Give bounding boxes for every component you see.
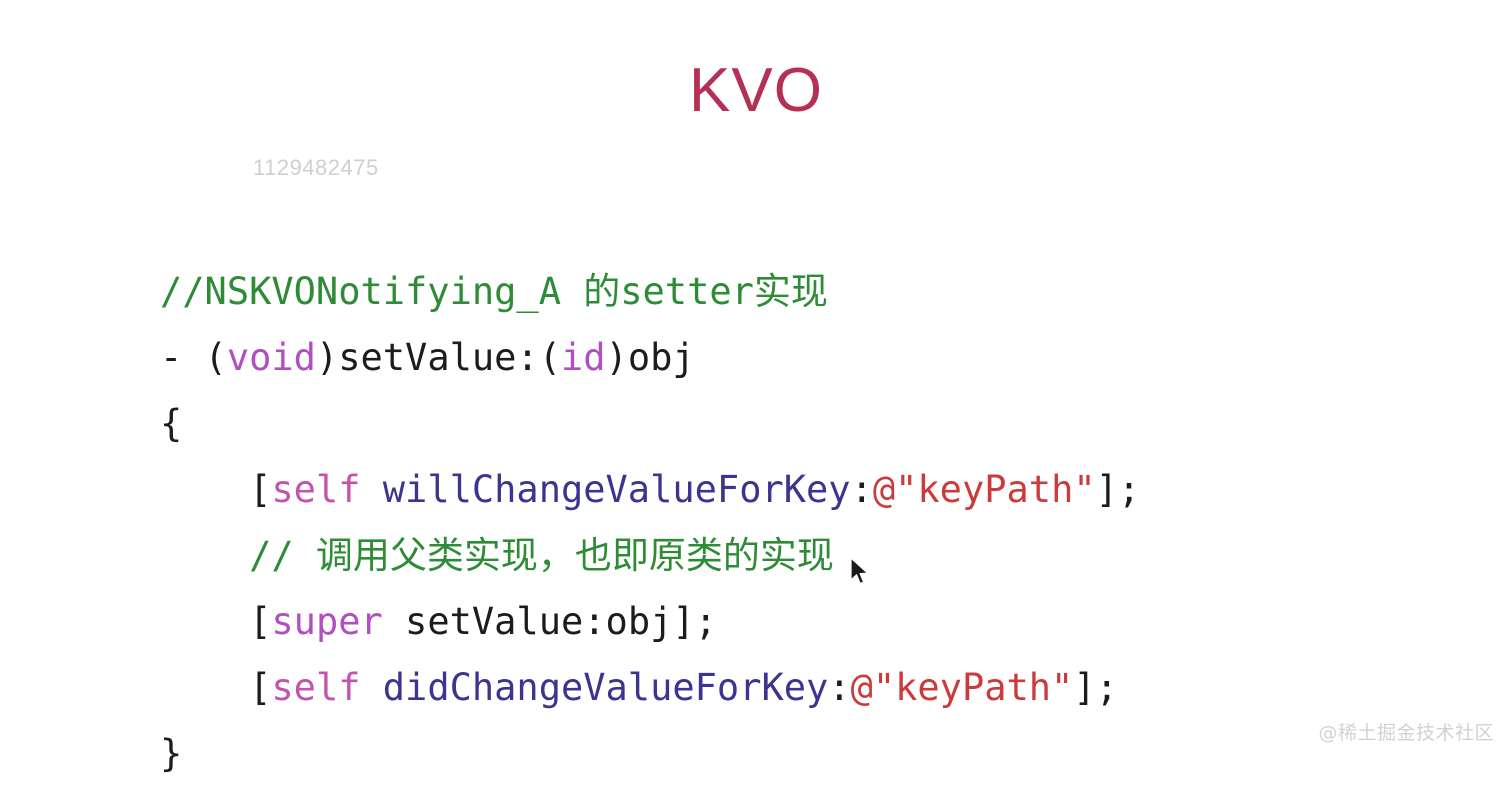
code-token-string: @"keyPath" — [873, 468, 1096, 511]
code-token-plain: [ — [160, 468, 271, 511]
code-token-plain: : — [851, 468, 873, 511]
code-block: //NSKVONotifying_A 的setter实现- (void)setV… — [160, 259, 1140, 787]
code-token-keyword: void — [227, 336, 316, 379]
code-token-method: willChangeValueForKey — [361, 468, 851, 511]
code-token-method: didChangeValueForKey — [361, 666, 829, 709]
id-watermark: 1129482475 — [253, 155, 379, 181]
code-line: //NSKVONotifying_A 的setter实现 — [160, 259, 1140, 325]
site-watermark: @稀土掘金技术社区 — [1318, 718, 1494, 745]
code-line: } — [160, 721, 1140, 787]
code-line: { — [160, 391, 1140, 457]
code-line: [self willChangeValueForKey:@"keyPath"]; — [160, 457, 1140, 523]
code-line: [super setValue:obj]; — [160, 589, 1140, 655]
code-token-plain: ]; — [1096, 468, 1141, 511]
code-token-keyword: super — [271, 600, 382, 643]
code-token-plain: ]; — [1073, 666, 1118, 709]
code-token-self: self — [271, 666, 360, 709]
code-token-comment: // 调用父类实现，也即原类的实现 — [160, 534, 834, 577]
code-token-plain: [ — [160, 600, 271, 643]
code-token-string: @"keyPath" — [851, 666, 1074, 709]
code-token-plain: )obj — [606, 336, 695, 379]
slide-canvas: KVO 1129482475 //NSKVONotifying_A 的sette… — [0, 0, 1512, 759]
code-token-comment: //NSKVONotifying_A 的setter实现 — [160, 270, 828, 313]
code-token-plain: )setValue:( — [316, 336, 561, 379]
code-token-plain: - ( — [160, 336, 227, 379]
code-token-plain: { — [160, 402, 182, 445]
code-token-keyword: id — [561, 336, 606, 379]
code-token-plain: setValue:obj]; — [383, 600, 717, 643]
code-line: - (void)setValue:(id)obj — [160, 325, 1140, 391]
code-token-plain: } — [160, 732, 182, 775]
code-token-plain: : — [828, 666, 850, 709]
page-title: KVO — [0, 57, 1512, 125]
code-token-self: self — [271, 468, 360, 511]
code-line: // 调用父类实现，也即原类的实现 — [160, 523, 1140, 589]
code-token-plain: [ — [160, 666, 271, 709]
code-line: [self didChangeValueForKey:@"keyPath"]; — [160, 655, 1140, 721]
